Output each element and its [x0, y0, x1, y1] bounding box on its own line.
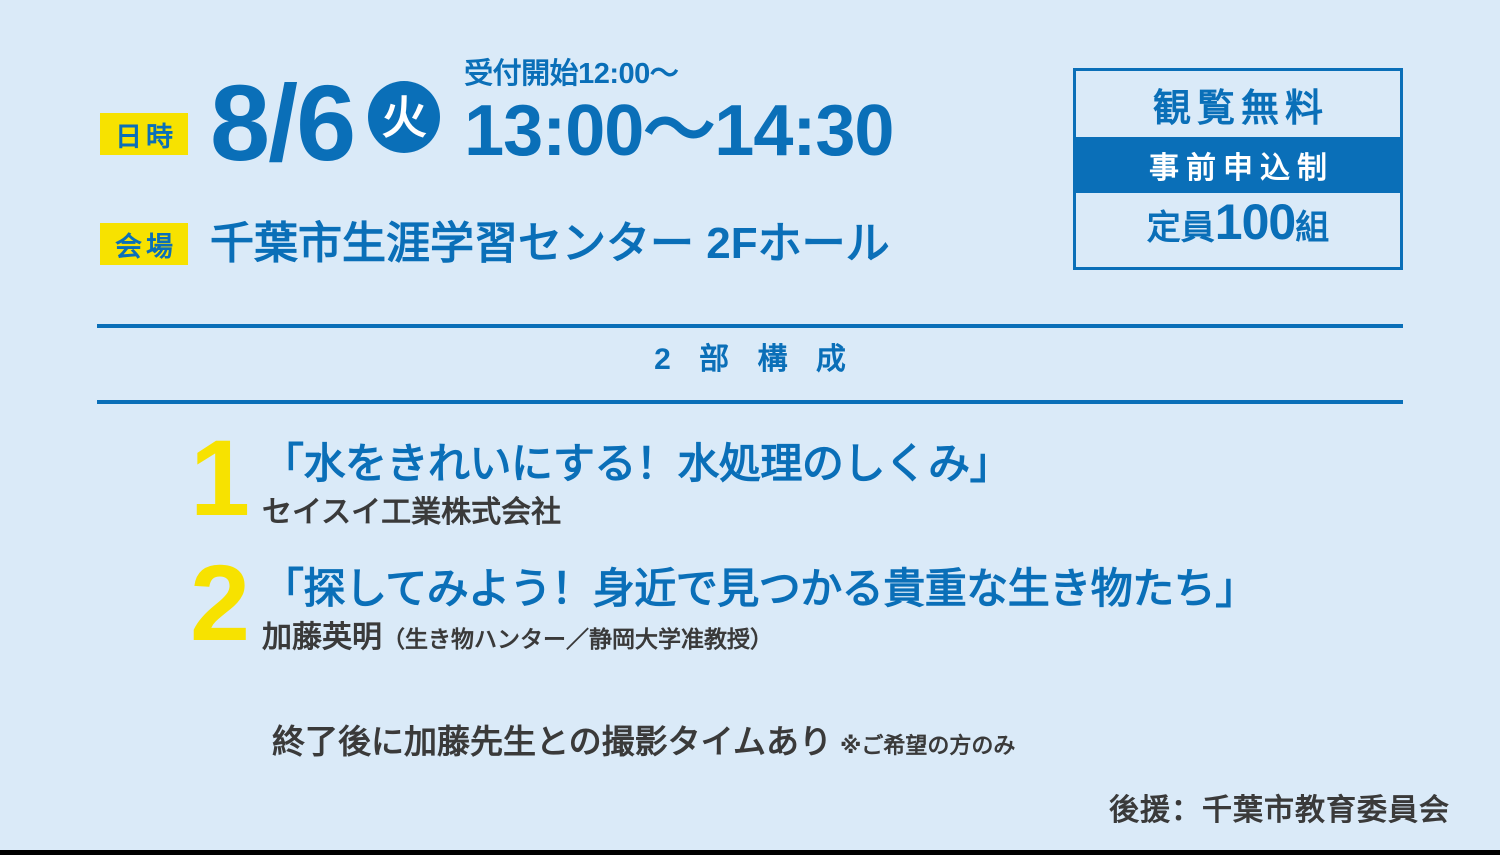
program-presenter: セイスイ工業株式会社: [262, 495, 1011, 531]
capacity-number: 100: [1215, 193, 1295, 251]
photo-session-condition: ※ご希望の方のみ: [840, 733, 1015, 758]
program-number: 1: [190, 432, 262, 525]
program-title: 「水をきれいにする！水処理のしくみ」: [262, 440, 1011, 487]
advance-registration-label: 事前申込制: [1076, 137, 1400, 193]
program-presenter-affiliation: （生き物ハンター／静岡大学准教授）: [382, 626, 773, 652]
event-date: 8/6: [210, 69, 354, 177]
program-presenter-name: セイスイ工業株式会社: [262, 496, 561, 529]
program-item: 2 「探してみよう！身近で見つかる貴重な生き物たち」 加藤英明（生き物ハンター／…: [190, 557, 1450, 656]
sponsor-credit: 後援：千葉市教育委員会: [1109, 796, 1450, 826]
program-list: 1 「水をきれいにする！水処理のしくみ」 セイスイ工業株式会社 2 「探してみよ…: [190, 432, 1450, 682]
capacity-row: 定員 100 組: [1076, 193, 1400, 267]
program-title: 「探してみよう！身近で見つかる貴重な生き物たち」: [262, 565, 1257, 612]
program-presenter: 加藤英明（生き物ハンター／静岡大学准教授）: [262, 620, 1257, 656]
capacity-unit: 組: [1295, 200, 1329, 249]
event-time-range: 13:00〜14:30: [464, 95, 893, 167]
photo-session-note: 終了後に加藤先生との撮影タイムあり※ご希望の方のみ: [272, 725, 1015, 758]
bottom-rule: [0, 850, 1500, 855]
program-item: 1 「水をきれいにする！水処理のしくみ」 セイスイ工業株式会社: [190, 432, 1450, 531]
reception-time-note: 受付開始12:00〜: [464, 60, 893, 89]
weekday-badge: 火: [368, 81, 440, 153]
datetime-tag: 日時: [100, 113, 188, 155]
venue-name: 千葉市生涯学習センター 2Fホール: [210, 222, 890, 266]
admission-free-label: 観覧無料: [1076, 71, 1400, 137]
venue-tag: 会場: [100, 223, 188, 265]
capacity-label: 定員: [1147, 200, 1215, 249]
venue-row: 会場 千葉市生涯学習センター 2Fホール: [100, 222, 890, 266]
program-body: 「探してみよう！身近で見つかる貴重な生き物たち」 加藤英明（生き物ハンター／静岡…: [262, 557, 1257, 656]
time-stack: 受付開始12:00〜 13:00〜14:30: [464, 60, 893, 167]
program-body: 「水をきれいにする！水処理のしくみ」 セイスイ工業株式会社: [262, 432, 1011, 531]
program-number: 2: [190, 557, 262, 650]
photo-session-text: 終了後に加藤先生との撮影タイムあり: [272, 723, 832, 760]
datetime-row: 日時 8/6 火 受付開始12:00〜 13:00〜14:30: [100, 60, 893, 171]
divider-bottom: [97, 400, 1403, 404]
divider-top: [97, 324, 1403, 328]
event-poster: 日時 8/6 火 受付開始12:00〜 13:00〜14:30 会場 千葉市生涯…: [0, 0, 1500, 855]
program-section-heading: 2 部 構 成: [97, 345, 1403, 375]
program-presenter-name: 加藤英明: [262, 621, 382, 654]
info-box: 観覧無料 事前申込制 定員 100 組: [1073, 68, 1403, 270]
